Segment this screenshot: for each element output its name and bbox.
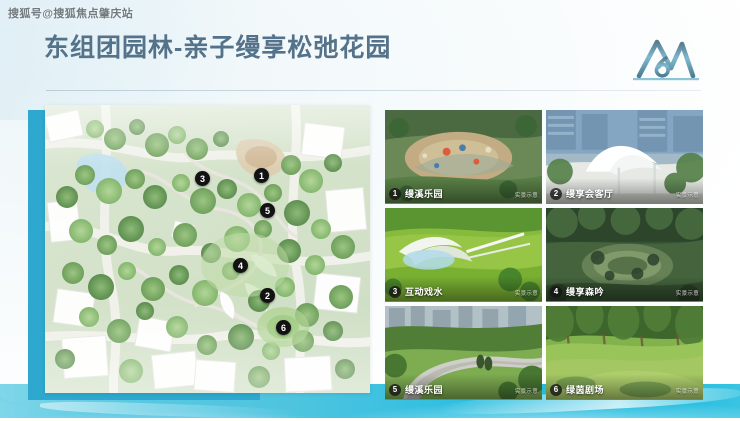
gallery-caption-text-6: 绿茵剧场	[566, 383, 604, 396]
gallery-caption-text-3: 互动戏水	[405, 285, 443, 298]
gallery-item-2[interactable]: 2 缦享会客厅 实景示意	[546, 110, 703, 204]
map-marker-2[interactable]: 2	[260, 288, 275, 303]
gallery-number-6: 6	[550, 384, 562, 396]
gallery-number-4: 4	[550, 286, 562, 298]
gallery-note-4: 实景示意	[676, 289, 699, 297]
gallery-caption-5: 5 缦溪乐园	[389, 383, 443, 396]
gallery-caption-1: 1 缦溪乐园	[389, 187, 443, 200]
band-light-streak-secondary	[40, 399, 300, 420]
landscape-master-plan[interactable]: 315426	[45, 105, 370, 393]
map-marker-1[interactable]: 1	[254, 168, 269, 183]
gallery-caption-3: 3 互动戏水	[389, 285, 443, 298]
watermark-text: 搜狐号@搜狐焦点肇庆站	[8, 8, 133, 21]
gallery-caption-text-5: 缦溪乐园	[405, 383, 443, 396]
gallery-caption-2: 2 缦享会客厅	[550, 187, 614, 200]
gallery-caption-text-2: 缦享会客厅	[566, 187, 614, 200]
gallery-note-2: 实景示意	[676, 191, 699, 199]
map-marker-3[interactable]: 3	[195, 171, 210, 186]
gallery-caption-text-1: 缦溪乐园	[405, 187, 443, 200]
gallery-caption-4: 4 缦享森吟	[550, 285, 604, 298]
gallery-number-2: 2	[550, 188, 562, 200]
gallery-item-6[interactable]: 6 绿茵剧场 实景示意	[546, 306, 703, 400]
reference-photo-grid: 1 缦溪乐园 实景示意	[385, 110, 703, 400]
mountain-m-logo	[627, 28, 705, 84]
gallery-note-3: 实景示意	[515, 289, 538, 297]
gallery-number-1: 1	[389, 188, 401, 200]
title-divider	[46, 90, 701, 91]
map-marker-6[interactable]: 6	[276, 320, 291, 335]
gallery-caption-6: 6 绿茵剧场	[550, 383, 604, 396]
gallery-item-1[interactable]: 1 缦溪乐园 实景示意	[385, 110, 542, 204]
gallery-number-5: 5	[389, 384, 401, 396]
gallery-caption-text-4: 缦享森吟	[566, 285, 604, 298]
gallery-item-3[interactable]: 3 互动戏水 实景示意	[385, 208, 542, 302]
gallery-note-1: 实景示意	[515, 191, 538, 199]
page-title: 东组团园林-亲子缦享松弛花园	[44, 33, 391, 63]
map-marker-5[interactable]: 5	[260, 203, 275, 218]
accent-bar-vertical	[28, 110, 46, 400]
map-marker-4[interactable]: 4	[233, 258, 248, 273]
gallery-item-5[interactable]: 5 缦溪乐园 实景示意	[385, 306, 542, 400]
gallery-item-4[interactable]: 4 缦享森吟 实景示意	[546, 208, 703, 302]
gallery-note-5: 实景示意	[515, 387, 538, 395]
gallery-note-6: 实景示意	[676, 387, 699, 395]
gallery-number-3: 3	[389, 286, 401, 298]
